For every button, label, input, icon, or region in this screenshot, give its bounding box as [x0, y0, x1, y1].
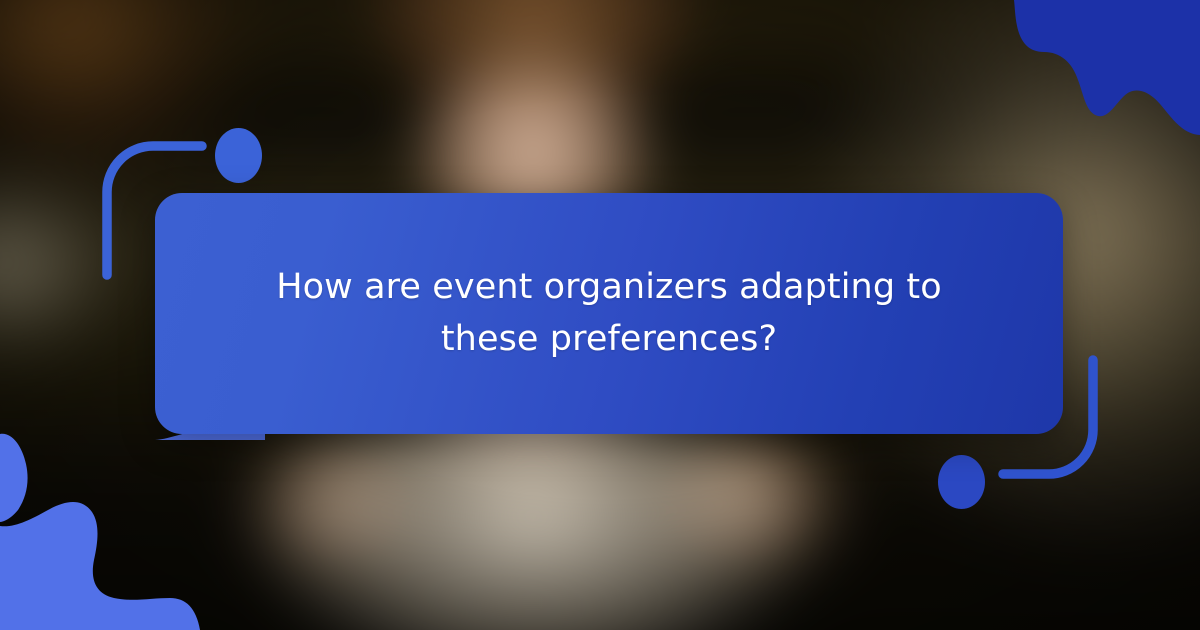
quote-text: How are event organizers adapting to the… [229, 262, 989, 366]
quote-card: How are event organizers adapting to the… [155, 193, 1063, 434]
quote-card-graphic: How are event organizers adapting to the… [0, 0, 1200, 630]
